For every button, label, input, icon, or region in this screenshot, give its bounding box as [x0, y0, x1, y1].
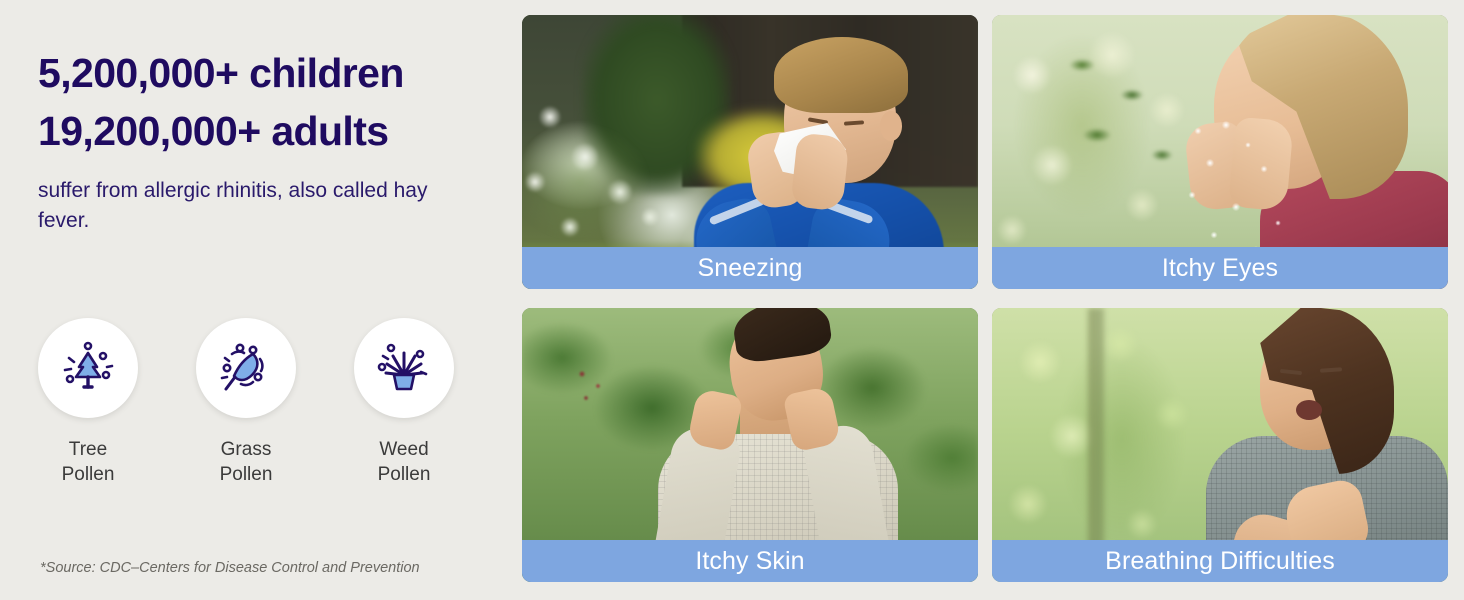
headline-block: 5,200,000+ children 19,200,000+ adults s…: [38, 44, 508, 236]
stats-panel: 5,200,000+ children 19,200,000+ adults s…: [0, 0, 520, 600]
symptom-caption-itchy-skin: Itchy Skin: [522, 540, 978, 582]
symptom-card-sneezing[interactable]: Sneezing: [522, 15, 978, 289]
allergen-label-tree-line1: Tree: [62, 437, 115, 462]
allergen-label-grass-line1: Grass: [220, 437, 273, 462]
allergen-item-weed: Weed Pollen: [354, 318, 454, 487]
allergen-list: Tree Pollen: [38, 318, 488, 487]
allergen-label-grass: Grass Pollen: [220, 437, 273, 487]
grass-seed-pollen-icon: [196, 318, 296, 418]
potted-weed-pollen-icon: [354, 318, 454, 418]
symptom-card-grid: Sneezing Itchy Eyes Itchy Skin Breathing…: [522, 15, 1448, 582]
allergen-label-weed-line1: Weed: [378, 437, 431, 462]
allergen-label-grass-line2: Pollen: [220, 462, 273, 487]
allergen-item-tree: Tree Pollen: [38, 318, 138, 487]
symptom-caption-sneezing: Sneezing: [522, 247, 978, 289]
allergen-label-tree-line2: Pollen: [62, 462, 115, 487]
stat-children: 5,200,000+ children: [38, 44, 508, 102]
stat-adults: 19,200,000+ adults: [38, 102, 508, 160]
source-note: *Source: CDC–Centers for Disease Control…: [40, 560, 420, 576]
allergen-label-tree: Tree Pollen: [62, 437, 115, 487]
symptom-caption-itchy-eyes: Itchy Eyes: [992, 247, 1448, 289]
stat-description: suffer from allergic rhinitis, also call…: [38, 176, 468, 236]
allergen-label-weed: Weed Pollen: [378, 437, 431, 487]
symptom-caption-breathing-difficulties: Breathing Difficulties: [992, 540, 1448, 582]
allergen-label-weed-line2: Pollen: [378, 462, 431, 487]
pine-tree-pollen-icon: [38, 318, 138, 418]
symptom-card-breathing-difficulties[interactable]: Breathing Difficulties: [992, 308, 1448, 582]
allergen-item-grass: Grass Pollen: [196, 318, 296, 487]
symptom-card-itchy-eyes[interactable]: Itchy Eyes: [992, 15, 1448, 289]
symptom-card-itchy-skin[interactable]: Itchy Skin: [522, 308, 978, 582]
